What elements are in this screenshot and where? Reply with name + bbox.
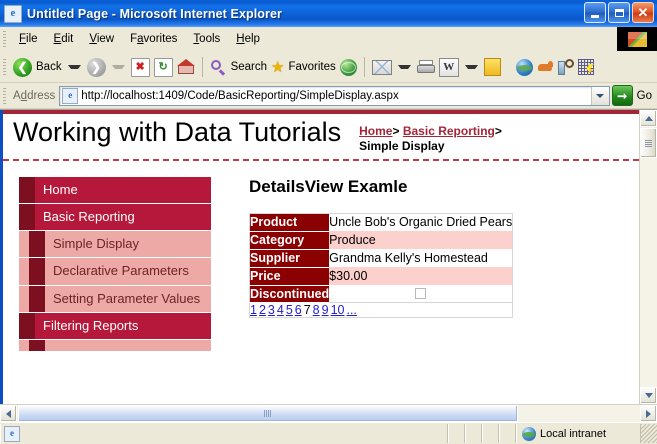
back-history-dropdown-icon[interactable] xyxy=(68,65,81,69)
star-icon: ★ xyxy=(271,60,284,75)
title-bar: e Untitled Page - Microsoft Internet Exp… xyxy=(0,0,657,27)
pager: 12345678910... xyxy=(250,303,513,318)
menu-file-rest: ile xyxy=(26,33,38,45)
sidebar-item-filtering-reports[interactable]: Filtering Reports xyxy=(19,313,211,340)
discontinued-checkbox[interactable] xyxy=(415,288,426,299)
ie-document-icon: e xyxy=(4,5,22,23)
research-button[interactable] xyxy=(556,56,576,78)
windows-flag-logo xyxy=(617,27,657,51)
table-row: Category Produce xyxy=(250,231,513,249)
chevron-down-icon xyxy=(596,94,604,98)
refresh-icon: ↻ xyxy=(154,58,173,77)
field-label-supplier: Supplier xyxy=(250,249,330,267)
vertical-scrollbar[interactable] xyxy=(639,110,657,404)
field-label-discontinued: Discontinued xyxy=(250,285,330,303)
pager-link-1[interactable]: 1 xyxy=(250,303,257,317)
pager-link-4[interactable]: 4 xyxy=(277,303,284,317)
field-value-product: Uncle Bob's Organic Dried Pears xyxy=(329,214,513,232)
go-label: Go xyxy=(637,90,652,102)
window-title: Untitled Page - Microsoft Internet Explo… xyxy=(27,7,282,21)
scroll-left-button[interactable] xyxy=(0,405,17,422)
field-value-price: $30.00 xyxy=(329,267,513,285)
security-zone-label: Local intranet xyxy=(540,428,606,440)
research-icon xyxy=(558,59,574,76)
messenger-button[interactable] xyxy=(576,56,596,78)
breadcrumb-sep-2: > xyxy=(495,124,502,138)
breadcrumb-current: Simple Display xyxy=(359,139,502,154)
forward-arrow-icon: ❯ xyxy=(87,58,106,77)
vertical-scroll-thumb[interactable] xyxy=(640,128,657,158)
address-input[interactable]: e http://localhost:1409/Code/BasicReport… xyxy=(59,86,609,106)
pager-current-7: 7 xyxy=(304,303,311,317)
menu-item-help[interactable]: Help xyxy=(228,31,268,47)
breadcrumb-link-basic-reporting[interactable]: Basic Reporting xyxy=(403,124,495,138)
sidebar-item-setting-parameter-values[interactable]: Setting Parameter Values xyxy=(19,286,211,313)
back-label: Back xyxy=(36,61,62,73)
content-heading: DetailsView Examle xyxy=(249,177,623,197)
sidebar-item-basic-reporting[interactable]: Basic Reporting xyxy=(19,204,211,231)
sidebar-nav: Home Basic Reporting Simple Display Decl… xyxy=(3,177,211,351)
media-button[interactable] xyxy=(338,56,359,78)
refresh-button[interactable]: ↻ xyxy=(152,56,175,78)
favorites-button[interactable]: ★ Favorites xyxy=(269,56,338,78)
breadcrumb-sep-1: > xyxy=(392,124,399,138)
vertical-scroll-track[interactable] xyxy=(640,158,657,387)
field-value-supplier: Grandma Kelly's Homestead xyxy=(329,249,513,267)
pager-link-2[interactable]: 2 xyxy=(259,303,266,317)
status-bar: e Local intranet xyxy=(0,422,657,444)
go-arrow-icon: ➞ xyxy=(612,85,633,106)
menu-edit-rest: dit xyxy=(61,33,73,45)
web-page: Working with Data Tutorials Home> Basic … xyxy=(0,110,639,404)
pager-link-8[interactable]: 8 xyxy=(313,303,320,317)
pager-link-5[interactable]: 5 xyxy=(286,303,293,317)
edit-word-button[interactable]: W xyxy=(437,56,461,78)
menu-item-tools[interactable]: Tools xyxy=(185,31,228,47)
breadcrumb-link-home[interactable]: Home xyxy=(359,124,392,138)
toolbar-separator-2 xyxy=(364,57,365,77)
sidebar-item-label: Home xyxy=(43,182,78,197)
address-url-text: http://localhost:1409/Code/BasicReportin… xyxy=(81,90,590,102)
fox-icon xyxy=(537,60,554,75)
main-content: DetailsView Examle Product Uncle Bob's O… xyxy=(211,177,639,351)
page-header: Working with Data Tutorials Home> Basic … xyxy=(3,114,639,161)
globe-icon xyxy=(516,59,533,76)
chevron-right-icon xyxy=(646,410,651,418)
minimize-button[interactable] xyxy=(584,2,606,23)
page-viewport: Working with Data Tutorials Home> Basic … xyxy=(0,109,657,404)
globe-icon xyxy=(522,427,536,441)
scroll-down-button[interactable] xyxy=(640,387,657,404)
sidebar-item-home[interactable]: Home xyxy=(19,177,211,204)
page-icon: e xyxy=(62,88,78,104)
status-slot-4 xyxy=(499,424,516,443)
menu-item-view[interactable]: View xyxy=(81,31,122,47)
menu-item-file[interactable]: File xyxy=(11,31,46,47)
browser-window: e Untitled Page - Microsoft Internet Exp… xyxy=(0,0,657,444)
horizontal-scrollbar[interactable] xyxy=(0,404,657,422)
word-icon: W xyxy=(439,58,459,77)
sidebar-item-declarative-parameters[interactable]: Declarative Parameters xyxy=(19,258,211,285)
word-glyph: W xyxy=(443,62,454,73)
pager-link-3[interactable]: 3 xyxy=(268,303,275,317)
table-row: Discontinued xyxy=(250,285,513,303)
scroll-right-button[interactable] xyxy=(640,405,657,422)
print-button[interactable] xyxy=(415,56,437,78)
field-label-price: Price xyxy=(250,267,330,285)
sidebar-item-label: Basic Reporting xyxy=(43,209,135,224)
sidebar-item-label: Simple Display xyxy=(53,236,139,251)
sidebar-item-simple-display[interactable]: Simple Display xyxy=(19,231,211,258)
menu-view-rest: iew xyxy=(97,33,114,45)
messenger-icon xyxy=(578,59,594,75)
sidebar-item-label: Setting Parameter Values xyxy=(53,291,200,306)
scroll-up-button[interactable] xyxy=(640,110,657,127)
back-button[interactable]: ❮ Back xyxy=(11,56,64,78)
menu-tools-rest: ools xyxy=(199,33,220,45)
table-row: Product Uncle Bob's Organic Dried Pears xyxy=(250,214,513,232)
security-zone-pane[interactable]: Local intranet xyxy=(516,424,641,443)
favorites-label: Favorites xyxy=(288,61,335,73)
fox-button[interactable] xyxy=(535,56,556,78)
horizontal-scroll-track[interactable] xyxy=(518,405,640,422)
pager-link-more[interactable]: ... xyxy=(346,303,356,317)
media-globe-icon xyxy=(340,59,357,76)
menu-favorites-rest: vorites xyxy=(144,33,178,45)
table-row: Price $30.00 xyxy=(250,267,513,285)
sidebar-item-label: Filtering Reports xyxy=(43,318,138,333)
search-button[interactable]: Search xyxy=(208,56,269,78)
home-button[interactable] xyxy=(175,56,197,78)
standard-toolbar: ❮ Back ❯ ✖ ↻ Search ★ Favorites xyxy=(0,52,657,83)
stop-icon: ✖ xyxy=(131,58,150,77)
forward-history-dropdown-icon[interactable] xyxy=(112,65,125,69)
search-label: Search xyxy=(231,61,267,73)
page-body: Home Basic Reporting Simple Display Decl… xyxy=(3,161,639,351)
mail-button[interactable] xyxy=(370,56,394,78)
go-button[interactable]: ➞ Go xyxy=(612,85,657,106)
toolbar-separator-1 xyxy=(202,57,203,77)
stop-button[interactable]: ✖ xyxy=(129,56,152,78)
status-page-icon: e xyxy=(4,426,20,442)
address-grip-handle[interactable] xyxy=(3,88,6,104)
table-pager-row: 12345678910... xyxy=(250,303,513,318)
status-slot-1 xyxy=(448,424,465,443)
menu-item-edit[interactable]: Edit xyxy=(46,31,82,47)
field-label-product: Product xyxy=(250,214,330,232)
mail-icon xyxy=(372,60,392,75)
forward-button[interactable]: ❯ xyxy=(85,56,108,78)
back-arrow-icon: ❮ xyxy=(13,58,32,77)
close-icon: ✕ xyxy=(638,6,649,19)
home-icon xyxy=(177,59,195,75)
note-icon xyxy=(484,58,501,76)
field-label-category: Category xyxy=(250,231,330,249)
horizontal-scroll-thumb[interactable] xyxy=(18,405,518,422)
menu-bar: File Edit View Favorites Tools Help xyxy=(0,27,657,52)
toolbar-grip-handle[interactable] xyxy=(3,59,6,75)
page-title: Working with Data Tutorials xyxy=(13,118,341,146)
detailsview-table: Product Uncle Bob's Organic Dried Pears … xyxy=(249,213,513,318)
table-row: Supplier Grandma Kelly's Homestead xyxy=(250,249,513,267)
status-slot-3 xyxy=(482,424,499,443)
menu-grip-handle[interactable] xyxy=(3,31,6,47)
field-value-discontinued xyxy=(329,285,513,303)
printer-icon xyxy=(417,60,435,74)
chevron-down-icon xyxy=(645,393,653,398)
chevron-up-icon xyxy=(645,116,653,121)
menu-help-rest: elp xyxy=(245,33,260,45)
breadcrumb: Home> Basic Reporting> Simple Display xyxy=(359,124,502,154)
address-dropdown-button[interactable] xyxy=(591,87,609,105)
resize-grip[interactable] xyxy=(641,424,657,443)
status-message-pane: e xyxy=(0,424,448,443)
field-value-category: Produce xyxy=(329,231,513,249)
close-button[interactable]: ✕ xyxy=(632,2,654,23)
maximize-button[interactable] xyxy=(608,2,630,23)
notes-button[interactable] xyxy=(482,56,503,78)
search-icon xyxy=(210,59,227,76)
window-controls: ✕ xyxy=(584,2,654,23)
chevron-left-icon xyxy=(6,410,11,418)
menu-item-favorites[interactable]: Favorites xyxy=(122,31,185,47)
edit-dropdown-icon[interactable] xyxy=(465,65,478,69)
sidebar-item-partial[interactable] xyxy=(19,340,211,351)
status-slot-2 xyxy=(465,424,482,443)
sidebar-item-label: Declarative Parameters xyxy=(53,263,189,278)
pager-link-9[interactable]: 9 xyxy=(322,303,329,317)
address-bar: Address e http://localhost:1409/Code/Bas… xyxy=(0,83,657,109)
pager-link-6[interactable]: 6 xyxy=(295,303,302,317)
address-label: Address xyxy=(13,90,55,102)
mail-dropdown-icon[interactable] xyxy=(398,65,411,69)
messenger-globe-button[interactable] xyxy=(514,56,535,78)
pager-link-10[interactable]: 10 xyxy=(331,303,345,317)
